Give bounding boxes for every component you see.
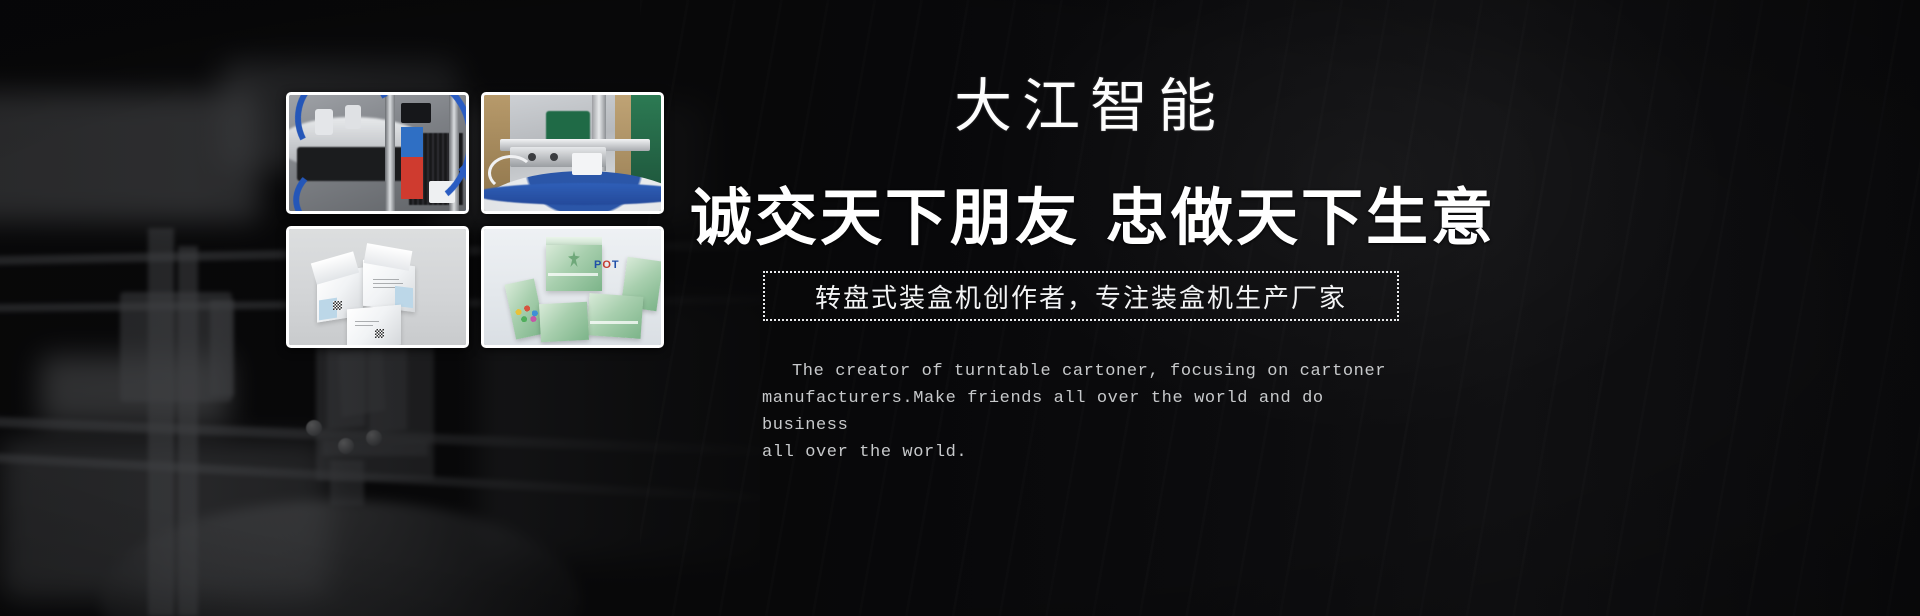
carton-print-strip	[590, 321, 638, 324]
brand-name: 大江智能	[690, 78, 1490, 136]
carton-text-line	[355, 325, 373, 326]
green-carton	[539, 302, 589, 342]
thumbnail-grid: POT	[286, 92, 664, 350]
english-line-3: all over the world.	[762, 439, 1412, 466]
carton-print-strip	[548, 273, 598, 276]
carton-text-line	[373, 279, 399, 280]
tagline-text: 转盘式装盒机创作者，专注装盒机生产厂家	[815, 278, 1347, 315]
gripper-hole	[528, 153, 536, 161]
thumbnail-image-1[interactable]	[286, 92, 469, 214]
headline-part-1: 诚交天下朋友	[690, 185, 1080, 253]
carton-text-line	[373, 287, 395, 288]
carton-text-line	[355, 321, 379, 322]
carton-brand-text: POT	[594, 259, 620, 271]
headline: 诚交天下朋友忠做天下生意	[690, 186, 1510, 253]
thumbnail-image-2[interactable]	[481, 92, 664, 214]
thumbnail-image-4[interactable]: POT	[481, 226, 664, 348]
qr-code	[375, 329, 384, 338]
qr-code	[333, 301, 342, 310]
hero-banner: POT 大江智能 诚交天下朋友忠做天下生意 转盘式装盒机创作者，专注装盒机生产厂…	[0, 0, 1920, 616]
tagline-box: 转盘式装盒机创作者，专注装盒机生产厂家	[763, 271, 1399, 321]
carton-text-line	[373, 283, 403, 284]
thumbnail-image-3[interactable]	[286, 226, 469, 348]
gripper-end-effector	[572, 153, 602, 175]
cable-loop	[488, 155, 534, 191]
english-line-2: manufacturers.Make friends all over the …	[762, 385, 1412, 439]
english-description: The creator of turntable cartoner, focus…	[762, 358, 1412, 466]
banner-text-column: 大江智能 诚交天下朋友忠做天下生意 转盘式装盒机创作者，专注装盒机生产厂家 Th…	[690, 0, 1870, 616]
gripper-hole	[550, 153, 558, 161]
headline-part-2: 忠做天下生意	[1106, 185, 1496, 253]
english-line-1: The creator of turntable cartoner, focus…	[762, 358, 1412, 385]
green-carton	[587, 293, 644, 339]
